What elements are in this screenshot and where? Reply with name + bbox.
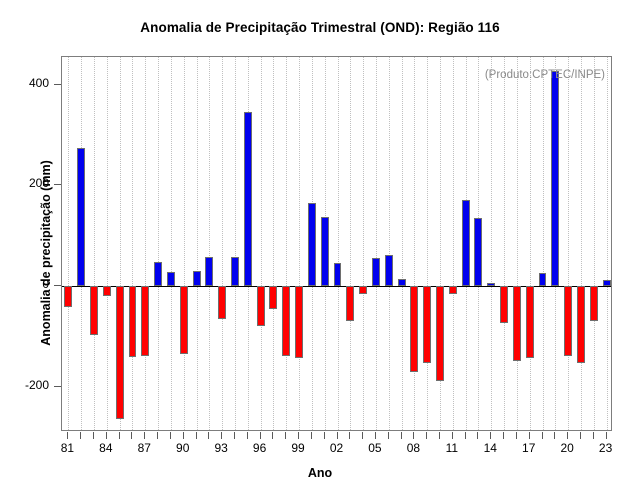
grid-line bbox=[286, 57, 287, 430]
x-tick-mark bbox=[272, 432, 273, 439]
x-tick-mark bbox=[337, 432, 338, 439]
bar-07 bbox=[398, 279, 406, 286]
grid-line bbox=[171, 57, 172, 430]
grid-line bbox=[402, 57, 403, 430]
x-tick-mark bbox=[593, 432, 594, 439]
x-tick-label: 90 bbox=[168, 441, 198, 455]
bar-10 bbox=[436, 286, 444, 381]
grid-line bbox=[491, 57, 492, 430]
x-tick-mark bbox=[119, 432, 120, 439]
x-tick-mark bbox=[375, 432, 376, 439]
grid-line bbox=[94, 57, 95, 430]
bar-17 bbox=[526, 286, 534, 358]
bar-22 bbox=[590, 286, 598, 321]
x-tick-label: 02 bbox=[322, 441, 352, 455]
grid-line bbox=[350, 57, 351, 430]
bar-86 bbox=[129, 286, 137, 357]
bar-82 bbox=[77, 148, 85, 286]
bar-90 bbox=[180, 286, 188, 354]
x-tick-mark bbox=[349, 432, 350, 439]
x-tick-mark bbox=[131, 432, 132, 439]
bar-16 bbox=[513, 286, 521, 360]
credit-annotation: (Produto:CPTEC/INPE) bbox=[485, 69, 605, 81]
bar-00 bbox=[308, 203, 316, 286]
x-tick-mark bbox=[490, 432, 491, 439]
bar-93 bbox=[218, 286, 226, 319]
bar-06 bbox=[385, 255, 393, 286]
y-tick-mark bbox=[54, 386, 61, 387]
y-tick-label: 0 bbox=[42, 277, 49, 291]
grid-line bbox=[222, 57, 223, 430]
grid-line bbox=[68, 57, 69, 430]
grid-line bbox=[235, 57, 236, 430]
grid-line bbox=[607, 57, 608, 430]
bar-13 bbox=[474, 218, 482, 286]
bar-84 bbox=[103, 286, 111, 296]
bar-02 bbox=[334, 263, 342, 286]
grid-line bbox=[158, 57, 159, 430]
y-tick-label: 200 bbox=[29, 176, 49, 190]
x-tick-mark bbox=[324, 432, 325, 439]
grid-line bbox=[453, 57, 454, 430]
bar-95 bbox=[244, 112, 252, 286]
bar-85 bbox=[116, 286, 124, 419]
grid-line bbox=[261, 57, 262, 430]
x-tick-mark bbox=[247, 432, 248, 439]
x-tick-mark bbox=[196, 432, 197, 439]
x-tick-mark bbox=[439, 432, 440, 439]
x-tick-mark bbox=[516, 432, 517, 439]
x-tick-label: 99 bbox=[283, 441, 313, 455]
x-tick-label: 87 bbox=[129, 441, 159, 455]
x-tick-mark bbox=[260, 432, 261, 439]
bar-99 bbox=[295, 286, 303, 358]
bar-08 bbox=[410, 286, 418, 372]
x-tick-mark bbox=[452, 432, 453, 439]
x-tick-mark bbox=[106, 432, 107, 439]
bar-92 bbox=[205, 257, 213, 286]
x-tick-mark bbox=[388, 432, 389, 439]
x-tick-mark bbox=[465, 432, 466, 439]
x-tick-mark bbox=[285, 432, 286, 439]
y-tick-label: 400 bbox=[29, 76, 49, 90]
grid-line bbox=[427, 57, 428, 430]
x-tick-mark bbox=[401, 432, 402, 439]
x-tick-mark bbox=[183, 432, 184, 439]
x-tick-mark bbox=[157, 432, 158, 439]
bar-23 bbox=[603, 280, 611, 286]
x-tick-mark bbox=[426, 432, 427, 439]
x-tick-mark bbox=[580, 432, 581, 439]
bar-91 bbox=[193, 271, 201, 286]
grid-line bbox=[594, 57, 595, 430]
bar-81 bbox=[64, 286, 72, 307]
x-tick-label: 84 bbox=[91, 441, 121, 455]
x-tick-mark bbox=[567, 432, 568, 439]
grid-line bbox=[517, 57, 518, 430]
x-tick-mark bbox=[542, 432, 543, 439]
grid-line bbox=[376, 57, 377, 430]
plot-area: (Produto:CPTEC/INPE) bbox=[61, 56, 612, 431]
x-tick-label: 93 bbox=[206, 441, 236, 455]
grid-line bbox=[209, 57, 210, 430]
grid-line bbox=[530, 57, 531, 430]
bar-87 bbox=[141, 286, 149, 356]
x-axis-label: Ano bbox=[0, 466, 640, 480]
grid-line bbox=[107, 57, 108, 430]
x-tick-mark bbox=[221, 432, 222, 439]
bar-88 bbox=[154, 262, 162, 286]
grid-line bbox=[132, 57, 133, 430]
x-tick-label: 08 bbox=[398, 441, 428, 455]
x-tick-label: 05 bbox=[360, 441, 390, 455]
bar-18 bbox=[539, 273, 547, 286]
grid-line bbox=[145, 57, 146, 430]
grid-line bbox=[568, 57, 569, 430]
bar-94 bbox=[231, 257, 239, 286]
bar-15 bbox=[500, 286, 508, 323]
bar-98 bbox=[282, 286, 290, 356]
x-tick-mark bbox=[208, 432, 209, 439]
x-tick-label: 96 bbox=[245, 441, 275, 455]
x-tick-mark bbox=[234, 432, 235, 439]
y-tick-label: -200 bbox=[25, 378, 49, 392]
grid-line bbox=[389, 57, 390, 430]
bar-14 bbox=[487, 283, 495, 286]
x-tick-mark bbox=[67, 432, 68, 439]
grid-line bbox=[581, 57, 582, 430]
bar-12 bbox=[462, 200, 470, 286]
grid-line bbox=[338, 57, 339, 430]
x-tick-label: 20 bbox=[552, 441, 582, 455]
grid-line bbox=[504, 57, 505, 430]
bar-97 bbox=[269, 286, 277, 309]
chart-figure: Anomalia de Precipitação Trimestral (OND… bbox=[0, 0, 640, 500]
bar-11 bbox=[449, 286, 457, 294]
x-tick-label: 11 bbox=[437, 441, 467, 455]
bar-89 bbox=[167, 272, 175, 286]
x-tick-label: 23 bbox=[591, 441, 621, 455]
x-tick-mark bbox=[80, 432, 81, 439]
x-tick-mark bbox=[170, 432, 171, 439]
x-tick-mark bbox=[606, 432, 607, 439]
x-tick-label: 17 bbox=[514, 441, 544, 455]
grid-line bbox=[273, 57, 274, 430]
bar-21 bbox=[577, 286, 585, 363]
bar-01 bbox=[321, 217, 329, 286]
y-tick-mark bbox=[54, 184, 61, 185]
x-tick-mark bbox=[144, 432, 145, 439]
grid-line bbox=[363, 57, 364, 430]
y-tick-mark bbox=[54, 84, 61, 85]
x-tick-mark bbox=[503, 432, 504, 439]
bar-96 bbox=[257, 286, 265, 326]
x-tick-mark bbox=[362, 432, 363, 439]
bar-83 bbox=[90, 286, 98, 335]
x-tick-mark bbox=[93, 432, 94, 439]
grid-line bbox=[197, 57, 198, 430]
x-tick-label: 14 bbox=[475, 441, 505, 455]
page-title: Anomalia de Precipitação Trimestral (OND… bbox=[0, 20, 640, 35]
x-tick-mark bbox=[554, 432, 555, 439]
bar-04 bbox=[359, 286, 367, 294]
y-tick-mark bbox=[54, 285, 61, 286]
x-tick-mark bbox=[529, 432, 530, 439]
y-axis-label: Anomalia de precipitação (mm) bbox=[39, 103, 53, 403]
bar-03 bbox=[346, 286, 354, 321]
bar-09 bbox=[423, 286, 431, 363]
x-tick-mark bbox=[413, 432, 414, 439]
x-tick-label: 81 bbox=[52, 441, 82, 455]
grid-line bbox=[543, 57, 544, 430]
grid-line bbox=[184, 57, 185, 430]
bar-19 bbox=[551, 71, 559, 286]
bar-05 bbox=[372, 258, 380, 286]
x-tick-mark bbox=[298, 432, 299, 439]
grid-line bbox=[299, 57, 300, 430]
x-tick-mark bbox=[311, 432, 312, 439]
x-tick-mark bbox=[477, 432, 478, 439]
bar-20 bbox=[564, 286, 572, 356]
grid-line bbox=[414, 57, 415, 430]
